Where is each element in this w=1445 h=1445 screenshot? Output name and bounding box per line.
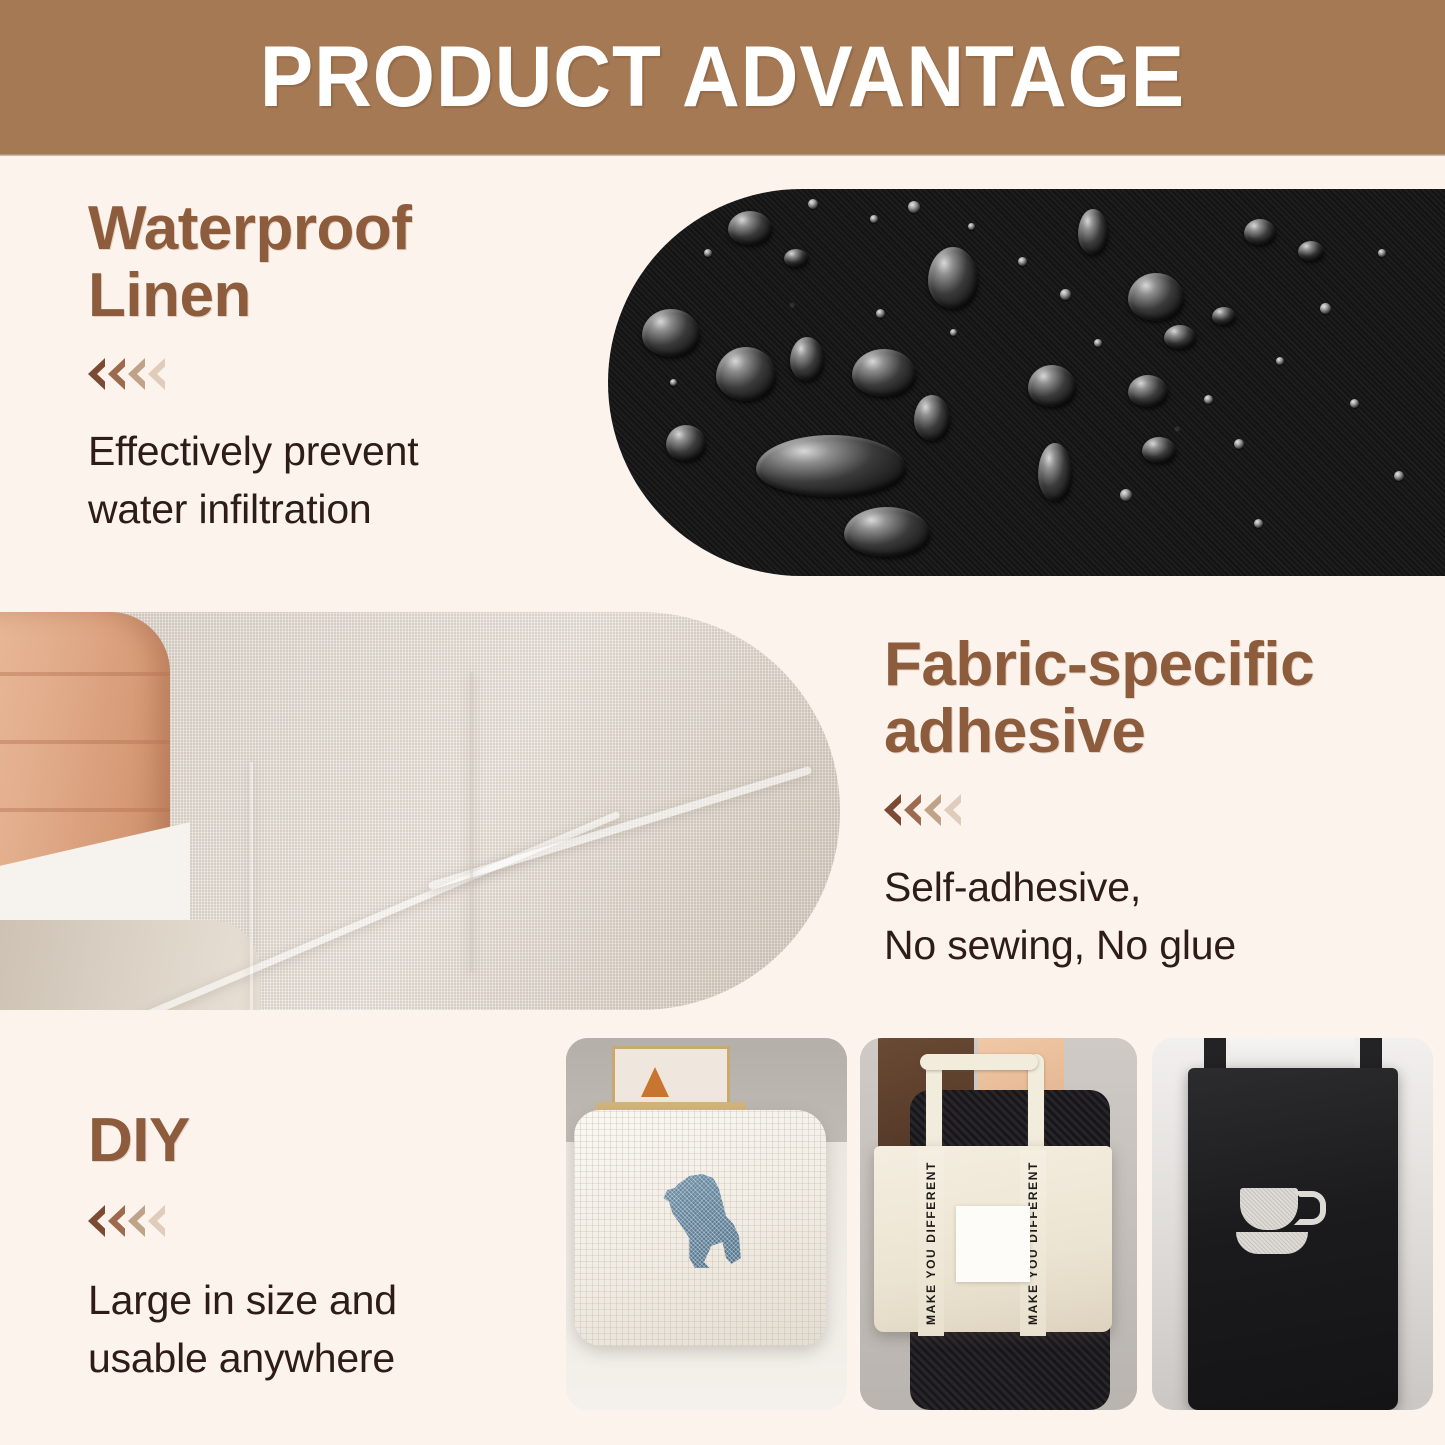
chevron-left-icon <box>884 794 901 826</box>
bear-silhouette-patch <box>956 1206 1030 1282</box>
teacup-silhouette-patch <box>1236 1188 1316 1254</box>
feature-heading-fabric-specific-adhesive: Fabric-specific adhesive <box>884 632 1424 766</box>
feature-body-diy: Large in size and usable anywhere <box>88 1271 548 1387</box>
chevron-divider-adhesive <box>884 794 1424 826</box>
feature-block-fabric-specific-adhesive: Fabric-specific adhesive Self-adhesive, … <box>884 632 1424 974</box>
feature-heading-diy: DIY <box>88 1108 548 1175</box>
chevron-left-icon <box>108 358 125 390</box>
banner-divider <box>0 153 1445 156</box>
feature-body-fabric-specific-adhesive: Self-adhesive, No sewing, No glue <box>884 858 1424 974</box>
feature-block-diy: DIY Large in size and usable anywhere <box>88 1108 548 1387</box>
chevron-left-icon <box>924 794 941 826</box>
chevron-left-icon <box>88 1205 105 1237</box>
chevron-left-icon <box>128 1205 145 1237</box>
chevron-left-icon <box>148 1205 165 1237</box>
chevron-left-icon <box>904 794 921 826</box>
feature-block-waterproof-linen: Waterproof Linen Effectively prevent wat… <box>88 196 558 538</box>
tote-strap-text-left: MAKE YOU DIFFERENT <box>918 1150 944 1336</box>
tote-bag-photo: MAKE YOU DIFFERENT MAKE YOU DIFFERENT <box>860 1038 1137 1410</box>
feature-body-waterproof-linen: Effectively prevent water infiltration <box>88 422 558 538</box>
apron-photo <box>1152 1038 1433 1410</box>
header-banner: PRODUCT ADVANTAGE <box>0 0 1445 153</box>
pillow-photo <box>566 1038 847 1410</box>
chevron-left-icon <box>128 358 145 390</box>
feature-heading-waterproof-linen: Waterproof Linen <box>88 196 558 330</box>
chevron-divider-diy <box>88 1205 548 1237</box>
chevron-divider-waterproof <box>88 358 558 390</box>
chevron-left-icon <box>88 358 105 390</box>
waterproof-fabric-photo <box>608 189 1445 576</box>
product-advantage-infographic: PRODUCT ADVANTAGE Waterproof Linen Effec… <box>0 0 1445 1445</box>
chevron-left-icon <box>148 358 165 390</box>
chevron-left-icon <box>944 794 961 826</box>
linen-fabric-photo <box>0 612 840 1010</box>
chevron-left-icon <box>108 1205 125 1237</box>
page-title: PRODUCT ADVANTAGE <box>260 34 1185 120</box>
